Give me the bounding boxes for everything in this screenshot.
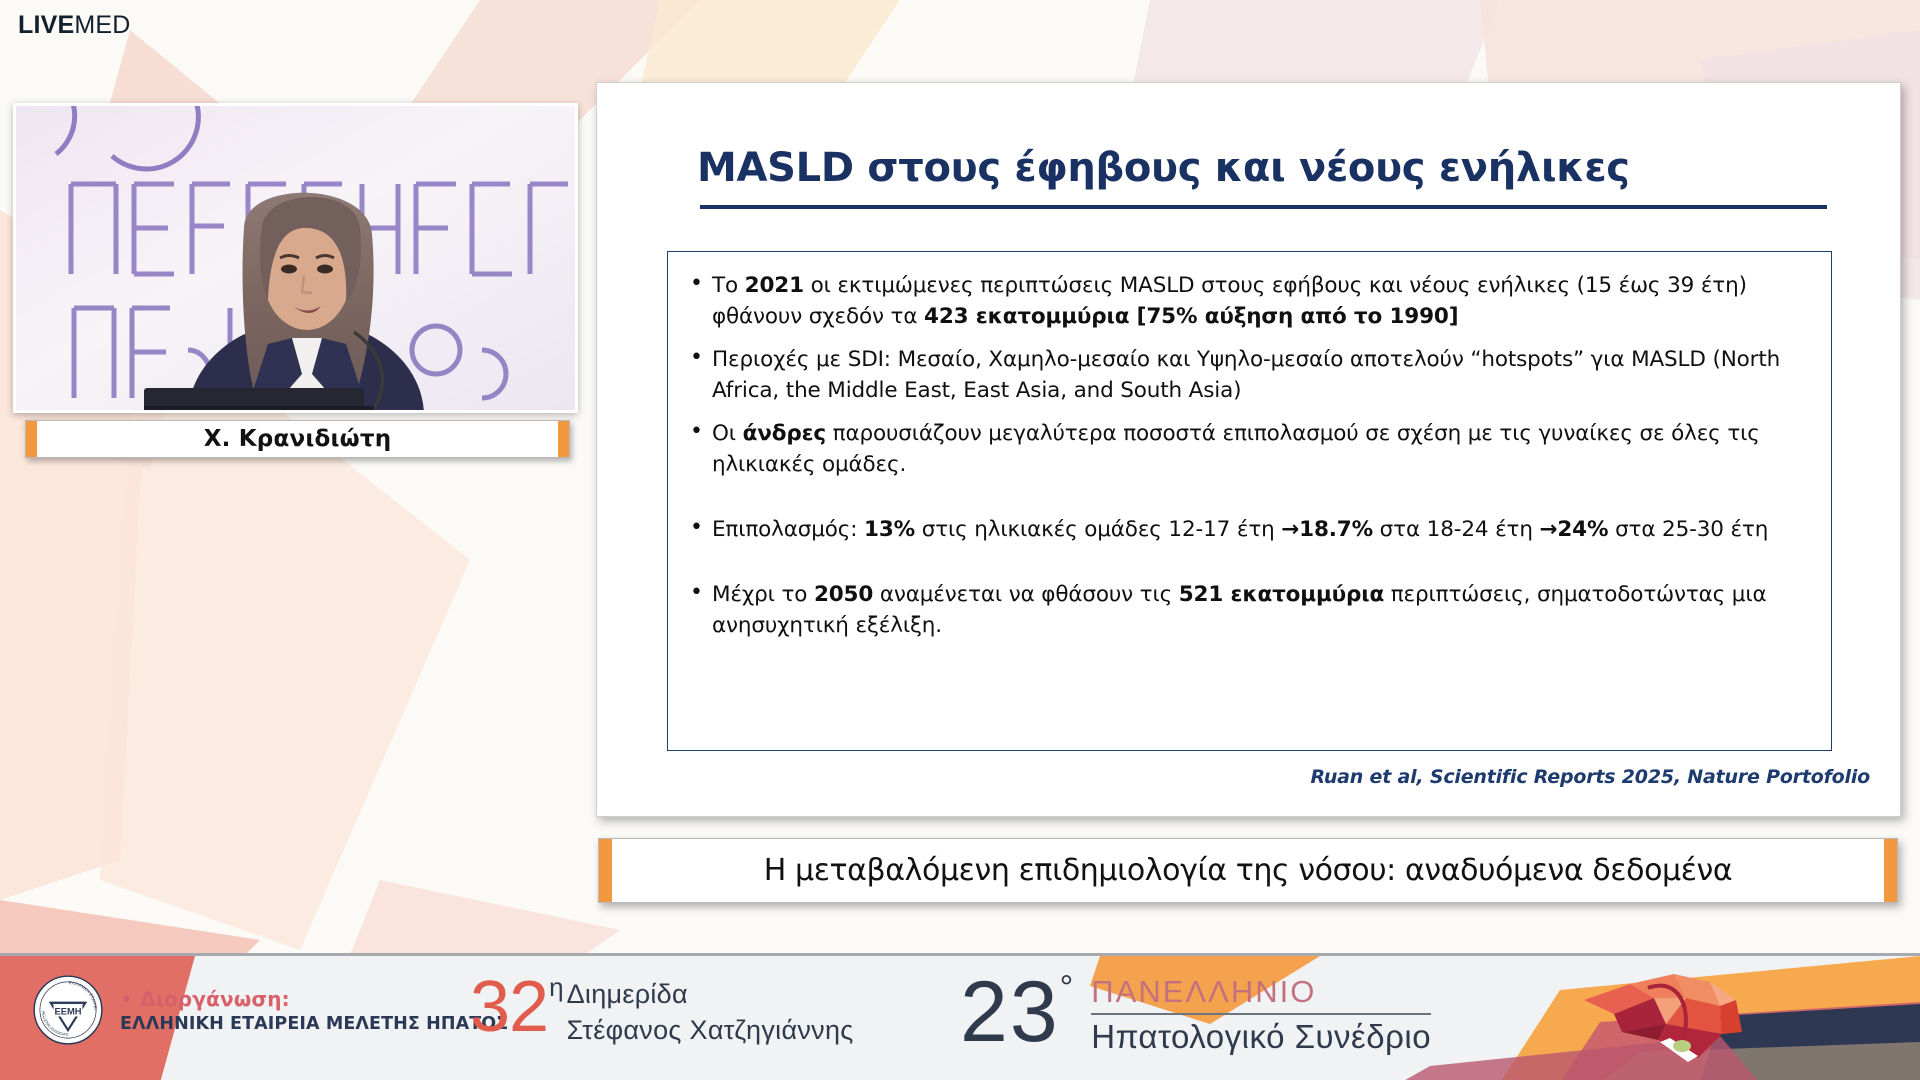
slide-citation: Ruan et al, Scientific Reports 2025, Nat… xyxy=(1310,766,1870,788)
event-block: 32 η Διημερίδα Στέφανος Χατζηγιάννης xyxy=(470,970,854,1048)
bullet-emphasis: →24% xyxy=(1540,517,1609,542)
congress-number: 23 xyxy=(960,966,1060,1058)
congress-divider xyxy=(1091,1013,1431,1015)
bullet-text: στα 25-30 έτη xyxy=(1608,517,1768,542)
bullet-text: Μέχρι το xyxy=(712,582,814,607)
bullet-list: Το 2021 οι εκτιμώμενες περιπτώσεις MASLD… xyxy=(668,252,1831,641)
bullet-text: Οι xyxy=(712,421,743,446)
bullet-text: Επιπολασμός: xyxy=(712,517,864,542)
bullet-text: στις ηλικιακές ομάδες 12-17 έτη xyxy=(915,517,1281,542)
congress-degree-symbol: ° xyxy=(1060,966,1074,1010)
event-number-suffix: η xyxy=(549,970,563,1004)
video-frame xyxy=(16,106,575,410)
bullet-text: αναμένεται να φθάσουν τις xyxy=(873,582,1179,607)
bullet-text: Το xyxy=(712,273,745,298)
bullet-item: Περιοχές με SDI: Μεσαίο, Χαμηλο-μεσαίο κ… xyxy=(686,344,1811,406)
speaker-name: Χ. Κρανιδιώτη xyxy=(204,426,392,452)
event-number: 32 xyxy=(470,970,548,1044)
event-line-1: Διημερίδα xyxy=(567,976,854,1012)
slide-content-box: Το 2021 οι εκτιμώμενες περιπτώσεις MASLD… xyxy=(667,251,1832,751)
bullet-text: Περιοχές με SDI: Μεσαίο, Χαμηλο-μεσαίο κ… xyxy=(712,347,1780,403)
event-footer: EEMH ΕΛΛΗΝΙΚΗ ΕΤΑΙΡΕΙΑ ΜΕΛΕΤΗΣ ΗΠΑΤΟΣ HE… xyxy=(0,953,1920,1080)
organizer-label: • Διοργάνωση: xyxy=(120,987,508,1011)
bullet-emphasis: →18.7% xyxy=(1281,517,1373,542)
event-labels: Διημερίδα Στέφανος Χατζηγιάννης xyxy=(567,976,854,1048)
livemed-logo-bold: LIVE xyxy=(18,11,74,39)
liver-illustration-icon xyxy=(1570,954,1790,1080)
congress-line-2: Ηπατολογικό Συνέδριο xyxy=(1091,1017,1431,1057)
speaker-video[interactable] xyxy=(13,103,578,413)
accent-bar-right xyxy=(1884,839,1897,902)
svg-text:EEMH: EEMH xyxy=(54,1006,81,1016)
accent-bar-left xyxy=(26,421,37,457)
event-line-2: Στέφανος Χατζηγιάννης xyxy=(567,1012,854,1048)
presentation-slide[interactable]: MASLD στους έφηβους και νέους ενήλικες Τ… xyxy=(596,82,1901,817)
organizer-text: • Διοργάνωση: ΕΛΛΗΝΙΚΗ ΕΤΑΙΡΕΙΑ ΜΕΛΕΤΗΣ … xyxy=(120,987,508,1034)
eemh-logo-icon: EEMH ΕΛΛΗΝΙΚΗ ΕΤΑΙΡΕΙΑ ΜΕΛΕΤΗΣ ΗΠΑΤΟΣ HE… xyxy=(32,974,104,1046)
organizer-name: ΕΛΛΗΝΙΚΗ ΕΤΑΙΡΕΙΑ ΜΕΛΕΤΗΣ ΗΠΑΤΟΣ xyxy=(120,1014,508,1034)
livemed-logo-light: MED xyxy=(74,11,130,39)
bullet-emphasis: 13% xyxy=(864,517,915,542)
bullet-item: Το 2021 οι εκτιμώμενες περιπτώσεις MASLD… xyxy=(686,270,1811,332)
slide-title: MASLD στους έφηβους και νέους ενήλικες xyxy=(697,145,1827,191)
organizer-block: EEMH ΕΛΛΗΝΙΚΗ ΕΤΑΙΡΕΙΑ ΜΕΛΕΤΗΣ ΗΠΑΤΟΣ HE… xyxy=(32,974,508,1046)
bullet-emphasis: 2021 xyxy=(745,273,804,298)
livemed-logo: LIVEMED xyxy=(18,13,131,38)
bullet-item: Οι άνδρες παρουσιάζουν μεγαλύτερα ποσοστ… xyxy=(686,418,1811,480)
bullet-text: παρουσιάζουν μεγαλύτερα ποσοστά επιπολασ… xyxy=(712,421,1760,477)
bullet-item: Μέχρι το 2050 αναμένεται να φθάσουν τις … xyxy=(686,579,1811,641)
congress-line-1: ΠΑΝΕΛΛΗΝΙΟ xyxy=(1091,974,1431,1010)
bullet-item: Επιπολασμός: 13% στις ηλικιακές ομάδες 1… xyxy=(686,514,1811,545)
congress-block: 23 ° ΠΑΝΕΛΛΗΝΙΟ Ηπατολογικό Συνέδριο xyxy=(960,966,1431,1058)
bullet-emphasis: 423 εκατομμύρια [75% αύξηση από το 1990] xyxy=(924,304,1458,329)
title-underline xyxy=(700,205,1827,209)
accent-bar-right xyxy=(558,421,569,457)
bullet-emphasis: 2050 xyxy=(814,582,873,607)
speaker-name-bar: Χ. Κρανιδιώτη xyxy=(25,420,570,458)
bullet-emphasis: 521 εκατομμύρια xyxy=(1179,582,1384,607)
session-title-bar: Η μεταβαλόμενη επιδημιολογία της νόσου: … xyxy=(598,838,1898,903)
session-title: Η μεταβαλόμενη επιδημιολογία της νόσου: … xyxy=(599,853,1897,888)
bullet-text: στα 18-24 έτη xyxy=(1373,517,1540,542)
congress-labels: ΠΑΝΕΛΛΗΝΙΟ Ηπατολογικό Συνέδριο xyxy=(1091,974,1431,1057)
bullet-emphasis: άνδρες xyxy=(743,421,826,446)
accent-bar-left xyxy=(599,839,612,902)
